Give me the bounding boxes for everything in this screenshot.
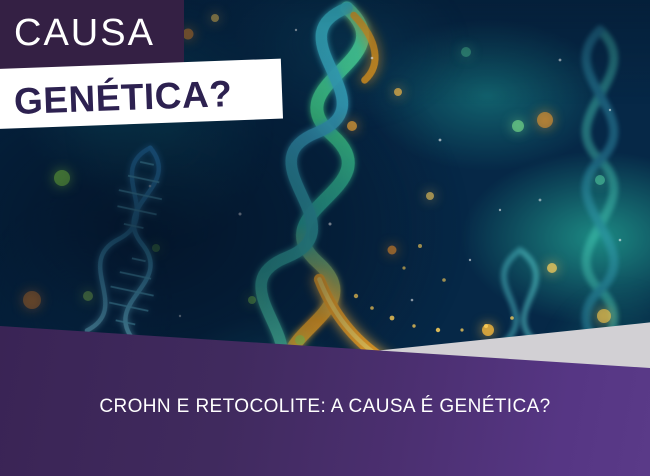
headline-primary: CAUSA [14,14,155,52]
footer-caption: CROHN E RETOCOLITE: A CAUSA É GENÉTICA? [0,396,650,418]
headline-secondary: GENÉTICA? [13,67,291,127]
poster-canvas: CAUSA GENÉTICA? CROHN E RETOCOLITE: A CA… [0,0,650,476]
